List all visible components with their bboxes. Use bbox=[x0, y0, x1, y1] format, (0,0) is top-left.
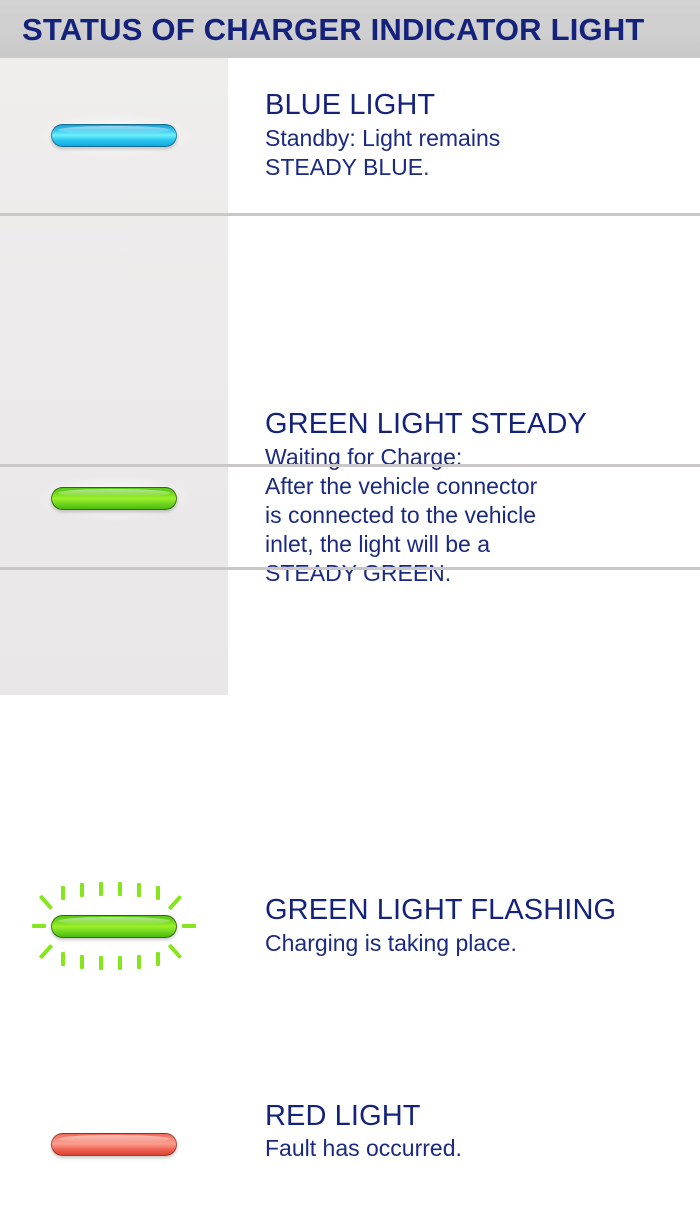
status-table: BLUE LIGHT Standby: Light remains STEADY… bbox=[0, 58, 700, 700]
charger-indicator-infographic: STATUS OF CHARGER INDICATOR LIGHT BLUE L… bbox=[0, 0, 700, 700]
blue-led-pill-icon bbox=[51, 124, 177, 147]
green-led-pill-icon bbox=[51, 915, 177, 938]
page-title: STATUS OF CHARGER INDICATOR LIGHT bbox=[22, 14, 645, 45]
table-row: GREEN LIGHT STEADY Waiting for Charge: A… bbox=[0, 216, 700, 464]
status-rows: BLUE LIGHT Standby: Light remains STEADY… bbox=[0, 58, 700, 700]
led-indicator-red bbox=[29, 1100, 199, 1190]
indicator-cell bbox=[0, 876, 228, 976]
green-led-pill-icon bbox=[51, 487, 177, 510]
description-cell: RED LIGHT Fault has occurred. bbox=[233, 1082, 700, 1207]
row-description: Standby: Light remains STEADY BLUE. bbox=[265, 124, 690, 182]
description-cell: BLUE LIGHT Standby: Light remains STEADY… bbox=[233, 58, 700, 213]
table-row: BLUE LIGHT Standby: Light remains STEADY… bbox=[0, 58, 700, 213]
row-title: RED LIGHT bbox=[265, 1100, 690, 1132]
row-description: Fault has occurred. bbox=[265, 1134, 690, 1163]
row-description: Charging is taking place. bbox=[265, 929, 690, 958]
table-row: RED LIGHT Fault has occurred. bbox=[0, 570, 700, 695]
indicator-cell bbox=[0, 58, 228, 213]
row-title: BLUE LIGHT bbox=[265, 89, 690, 121]
indicator-cell bbox=[0, 1082, 228, 1207]
header-bar: STATUS OF CHARGER INDICATOR LIGHT bbox=[0, 0, 700, 58]
led-indicator-blue bbox=[29, 91, 199, 181]
red-led-pill-icon bbox=[51, 1133, 177, 1156]
row-title: GREEN LIGHT FLASHING bbox=[265, 894, 690, 926]
description-cell: GREEN LIGHT FLASHING Charging is taking … bbox=[233, 876, 700, 976]
led-indicator-green-flashing bbox=[29, 881, 199, 971]
row-title: GREEN LIGHT STEADY bbox=[265, 408, 690, 440]
